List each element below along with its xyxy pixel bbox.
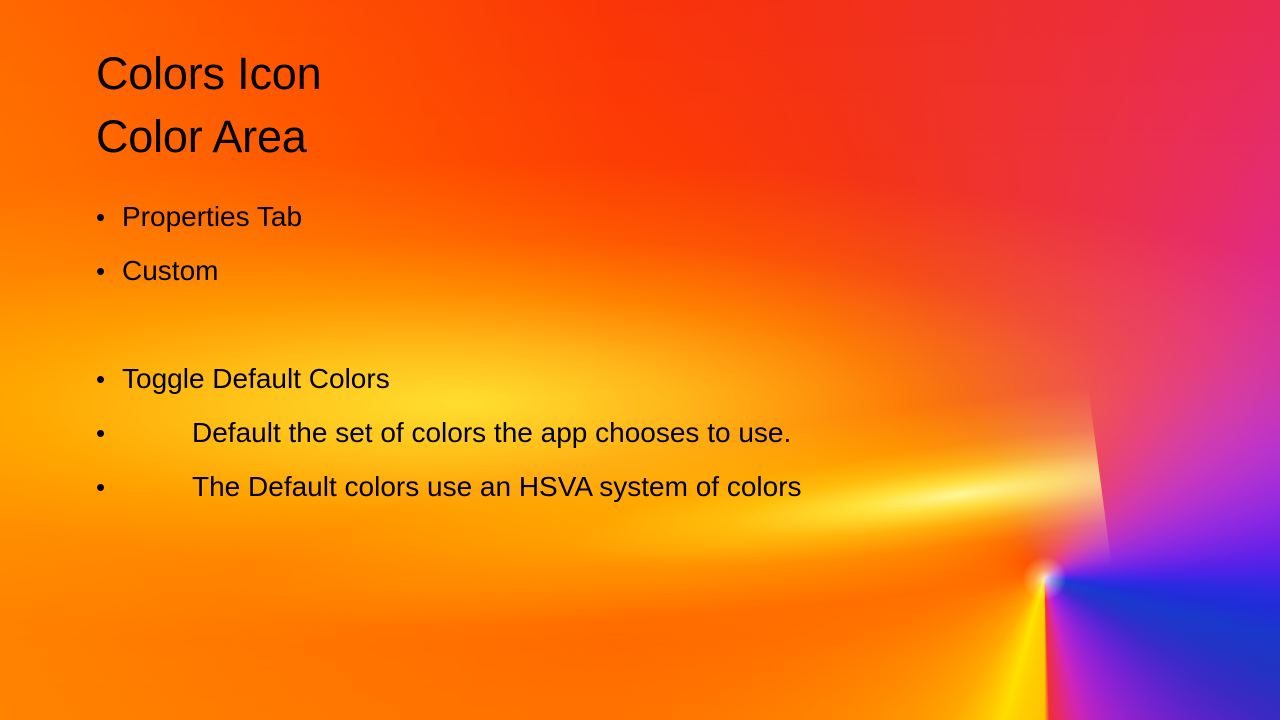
list-item-label: Custom: [122, 244, 1156, 298]
list-item-label: Toggle Default Colors: [122, 352, 1156, 406]
list-item-blank: [96, 298, 1156, 352]
bullet-icon: •: [96, 460, 122, 514]
bullet-icon: •: [96, 244, 122, 298]
list-item: • Default the set of colors the app choo…: [96, 406, 1156, 460]
list-item-label: The Default colors use an HSVA system of…: [122, 460, 1156, 514]
list-item-label: Properties Tab: [122, 190, 1156, 244]
list-item: • Custom: [96, 244, 1156, 298]
bullet-icon: •: [96, 352, 122, 406]
list-item: • Properties Tab: [96, 190, 1156, 244]
bullet-list: • Properties Tab • Custom • Toggle Defau…: [96, 190, 1156, 514]
page-title: Colors Icon Color Area: [96, 42, 1116, 168]
list-item: • Toggle Default Colors: [96, 352, 1156, 406]
bullet-icon: •: [96, 406, 122, 460]
list-item-label: Default the set of colors the app choose…: [122, 406, 1156, 460]
slide: Colors Icon Color Area • Properties Tab …: [0, 0, 1280, 720]
list-item: • The Default colors use an HSVA system …: [96, 460, 1156, 514]
bullet-icon: •: [96, 190, 122, 244]
bullet-spacer: [96, 298, 122, 352]
